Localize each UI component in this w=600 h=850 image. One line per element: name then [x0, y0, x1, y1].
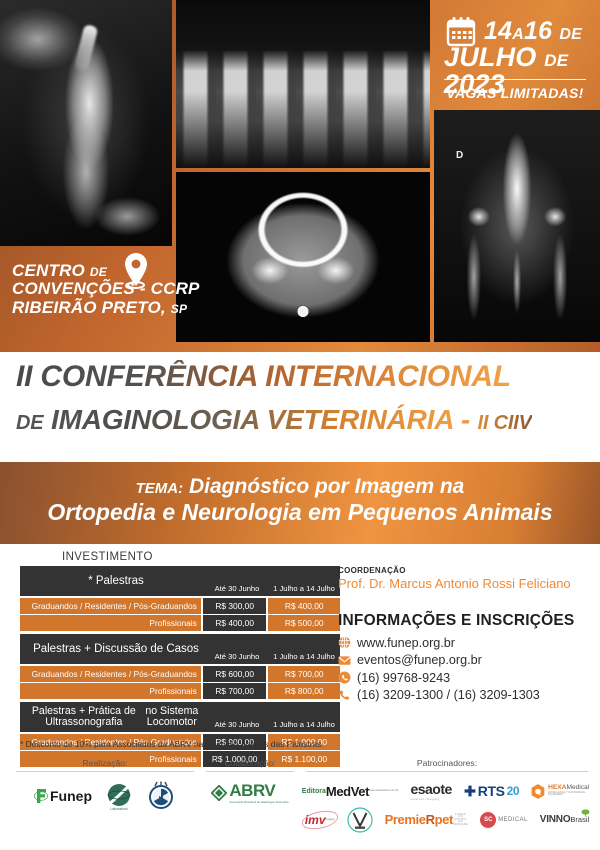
- radiograph-spine-vertebrae: [176, 0, 430, 168]
- event-title: II CONFERÊNCIA INTERNACIONAL DE IMAGINOL…: [0, 352, 600, 460]
- patrocinadores-caption: Patrocinadores:: [306, 758, 588, 772]
- sponsors-patrocinadores: Patrocinadores: Editora MedVet www.medve…: [306, 758, 588, 833]
- radiograph-pelvis-film: [434, 110, 600, 342]
- phone-icon: [338, 689, 351, 702]
- contact-list: www.funep.org.br eventos@funep.org.br (1…: [338, 634, 540, 704]
- ct-scan-film: [176, 172, 430, 342]
- title-main: IMAGINOLOGIA VETERINÁRIA: [51, 404, 453, 435]
- laboratorio-icon: Laboratório: [104, 781, 134, 811]
- contact-website[interactable]: www.funep.org.br: [338, 634, 540, 652]
- esaote-subtitle: medical imaging: [410, 797, 451, 801]
- event-date-day-range: 14A16 DE: [484, 19, 582, 44]
- logo-abrv: ABRV Associação Brasileira de Radiologia…: [211, 781, 288, 804]
- radiograph-limb-lesion: [0, 0, 172, 246]
- logo-radiologia: [146, 781, 176, 811]
- envelope-icon: [338, 654, 351, 667]
- radiograph-limb-film: [0, 0, 172, 246]
- pricing-row-label: Profissionais: [20, 615, 201, 631]
- ct-scan-skull-cross-section: [176, 172, 430, 342]
- venue-de: DE: [90, 265, 107, 279]
- date-de-1: DE: [559, 26, 582, 43]
- contact-phone[interactable]: (16) 3209-1300 / (16) 3209-1303: [338, 687, 540, 705]
- hexa-name-b: Medical: [566, 784, 589, 791]
- venue-address: CENTRO DE CONVENÇÕES - CCRP RIBEIRÃO PRE…: [12, 262, 200, 317]
- theme-banner: TEMA: Diagnóstico por Imagem na Ortopedi…: [0, 462, 600, 544]
- logo-rts: RTS 20: [464, 783, 519, 799]
- pricing-row-value-1: R$ 300,00: [203, 598, 267, 614]
- pricing-col-header-2: 1 Julho a 14 Julho: [270, 652, 338, 661]
- rts-cross-icon: [464, 785, 476, 797]
- realizacao-logos: Funep Laboratório: [16, 772, 194, 811]
- pricing-block-palestras: * Palestras Até 30 Junho 1 Julho a 14 Ju…: [20, 566, 340, 631]
- pricing-row-label: Graduandos / Residentes / Pós-Graduandos: [20, 666, 201, 682]
- hexa-text: HEXAMedical EXCELLENCE YOUR MEDICAL EQUI…: [548, 785, 592, 797]
- pricing-col-header-1: Até 30 Junho: [206, 584, 268, 593]
- radiation-symbol-icon: [146, 781, 176, 811]
- premie-subtitle: TODOS OS NUTRIS DE VERDADE: [453, 814, 468, 827]
- sc-ball-icon: SC: [480, 812, 496, 828]
- theme-line-2: Ortopedia e Neurologia em Pequenos Anima…: [0, 500, 600, 525]
- logo-medvet: Editora MedVet www.medvetlivros.com.br: [302, 785, 399, 798]
- logo-vinno-brasil: VINNO Brasil: [540, 815, 589, 825]
- globe-icon: [338, 636, 351, 649]
- coordination-label: COORDENAÇÃO: [338, 566, 406, 575]
- logo-imv: imv imaging: [305, 814, 335, 826]
- hero-image-mosaic: D: [0, 0, 600, 352]
- pricing-block-title: Palestras + Discussão de Casos: [28, 634, 204, 664]
- abrv-wordmark: ABRV: [229, 781, 275, 800]
- logo-laboratorio: Laboratório: [104, 781, 134, 811]
- vinno-country: Brasil: [570, 816, 589, 824]
- premie-pet: pet: [435, 812, 453, 827]
- pricing-block-title: Palestras + Prática de Ultrassonografia …: [28, 702, 204, 732]
- pricing-col-header-1: Até 30 Junho: [206, 652, 268, 661]
- theme-label: TEMA:: [136, 480, 184, 497]
- pricing-block-title: * Palestras: [28, 566, 204, 596]
- website-text: www.funep.org.br: [357, 636, 455, 650]
- pricing-block-discussao-casos: Palestras + Discussão de Casos Até 30 Ju…: [20, 634, 340, 699]
- medvet-url: www.medvetlivros.com.br: [369, 790, 398, 793]
- vinno-wordmark: VINNO: [540, 815, 571, 825]
- date-month: JULHO: [444, 42, 537, 72]
- esaote-wordmark: esaote: [410, 781, 451, 797]
- table-row: Graduandos / Residentes / Pós-Graduandos…: [20, 598, 340, 614]
- title-line-2: DE IMAGINOLOGIA VETERINÁRIA - II CIIV: [16, 404, 532, 436]
- pricing-col-header-2: 1 Julho a 14 Julho: [270, 584, 338, 593]
- email-text: eventos@funep.org.br: [357, 653, 482, 667]
- logo-vet-circle: [347, 807, 373, 833]
- radiograph-pelvis-hips: D: [434, 110, 600, 342]
- logo-esaote: esaote medical imaging: [410, 781, 451, 801]
- pricing-block-header: Palestras + Discussão de Casos Até 30 Ju…: [20, 634, 340, 664]
- premie-wordmark: Premie: [385, 812, 426, 827]
- table-row: Graduandos / Residentes / Pós-Graduandos…: [20, 666, 340, 682]
- event-date-block: 14A16 DE JULHO DE 2023 VAGAS LIMITADAS!: [430, 0, 600, 110]
- medvet-editora: Editora: [302, 788, 326, 795]
- sponsors-realizacao: Realização: Funep Laboratório: [16, 758, 194, 811]
- pricing-block-header: Palestras + Prática de Ultrassonografia …: [20, 702, 340, 732]
- logo-sc-medical: SC MEDICAL: [480, 812, 527, 828]
- logo-premierpet: PremieRpet TODOS OS NUTRIS DE VERDADE: [385, 812, 469, 828]
- pricing-col-header-1: Até 30 Junho: [206, 720, 268, 729]
- whatsapp-icon: [338, 671, 351, 684]
- realizacao-caption: Realização:: [16, 758, 194, 772]
- pricing-col-header-2: 1 Julho a 14 Julho: [270, 720, 338, 729]
- table-row: Profissionais R$ 700,00 R$ 800,00: [20, 683, 340, 699]
- pricing-row-label: Graduandos / Residentes / Pós-Graduandos: [20, 598, 201, 614]
- venue-city: RIBEIRÃO PRETO,: [12, 298, 166, 317]
- colaboracao-caption: Colaboração:: [206, 758, 294, 772]
- date-de-2: DE: [544, 51, 568, 70]
- venue-state: SP: [171, 302, 187, 316]
- title-dash: -: [461, 404, 470, 435]
- contact-whatsapp[interactable]: (16) 99768-9243: [338, 669, 540, 687]
- theme-line-1: Diagnóstico por Imagem na: [189, 475, 464, 498]
- radiograph-spine-film: [176, 0, 430, 168]
- limited-seats-badge: VAGAS LIMITADAS!: [444, 79, 586, 101]
- premie-r: R: [426, 812, 435, 827]
- pricing-row-value-1: R$ 400,00: [203, 615, 267, 631]
- whatsapp-text: (16) 99768-9243: [357, 671, 450, 685]
- venue-line-3: RIBEIRÃO PRETO, SP: [12, 299, 200, 317]
- pricing-row-value-2: R$ 800,00: [268, 683, 340, 699]
- logo-hexamedical: HEXAMedical EXCELLENCE YOUR MEDICAL EQUI…: [531, 782, 592, 801]
- funep-wordmark: Funep: [50, 788, 92, 804]
- logo-funep: Funep: [34, 788, 92, 804]
- pricing-row-label: Profissionais: [20, 683, 201, 699]
- hexa-name-a: HEXA: [548, 784, 566, 791]
- pricing-row-value-2: R$ 700,00: [268, 666, 340, 682]
- rts-anniversary: 20: [507, 784, 520, 798]
- radiograph-side-marker: D: [456, 150, 463, 161]
- phone-text: (16) 3209-1300 / (16) 3209-1303: [357, 688, 540, 702]
- pricing-row-value-2: R$ 500,00: [268, 615, 340, 631]
- discount-footnote: * Desconto de 10% para Associados da ABR…: [20, 739, 322, 749]
- patrocinadores-logos-row-1: Editora MedVet www.medvetlivros.com.br e…: [306, 772, 588, 801]
- venue-centro: CENTRO: [12, 261, 85, 280]
- conference-poster: D: [0, 0, 600, 850]
- date-range-connector: A: [512, 26, 524, 43]
- contact-email[interactable]: eventos@funep.org.br: [338, 652, 540, 670]
- coordinator-name: Prof. Dr. Marcus Antonio Rossi Feliciano: [338, 576, 571, 591]
- medvet-wordmark: MedVet: [326, 785, 369, 798]
- pricing-row-value-2: R$ 400,00: [268, 598, 340, 614]
- information-heading: INFORMAÇÕES E INSCRIÇÕES: [338, 612, 574, 630]
- theme-row-1: TEMA: Diagnóstico por Imagem na: [0, 462, 600, 498]
- pricing-block-header: * Palestras Até 30 Junho 1 Julho a 14 Ju…: [20, 566, 340, 596]
- rts-wordmark: RTS: [478, 783, 505, 799]
- hexa-subtitle: EXCELLENCE YOUR MEDICAL EQUIPMENT: [548, 792, 592, 797]
- investment-label: INVESTIMENTO: [62, 551, 153, 563]
- title-acronym: II CIIV: [478, 412, 532, 434]
- pricing-block-title-line-2: no Sistema Locomotor: [140, 706, 204, 728]
- pricing-row-value-1: R$ 600,00: [203, 666, 267, 682]
- vinno-leaf-icon: [581, 809, 590, 817]
- venue-line-2: CONVENÇÕES - CCRP: [12, 280, 200, 298]
- funep-mark-icon: [34, 788, 49, 804]
- pricing-block-title-line-1: Palestras + Prática de Ultrassonografia: [28, 706, 140, 728]
- vet-circle-icon: [347, 807, 373, 833]
- hexa-hexagon-icon: [531, 782, 545, 801]
- sponsors-colaboracao: Colaboração: ABRV Associação Brasileira …: [206, 758, 294, 804]
- abrv-diamond-icon: [211, 785, 227, 801]
- pricing-row-value-1: R$ 700,00: [203, 683, 267, 699]
- sc-medical-word: MEDICAL: [498, 817, 527, 823]
- venue-line-1: CENTRO DE: [12, 262, 200, 280]
- colaboracao-logos: ABRV Associação Brasileira de Radiologia…: [206, 772, 294, 804]
- title-line-1: II CONFERÊNCIA INTERNACIONAL: [16, 360, 511, 394]
- table-row: Profissionais R$ 400,00 R$ 500,00: [20, 615, 340, 631]
- imv-swoosh-icon: [301, 810, 339, 830]
- patrocinadores-logos-row-2: imv imaging PremieRpet TODOS OS NUTRIS D…: [306, 801, 588, 833]
- abrv-subtitle: Associação Brasileira de Radiologia Vete…: [229, 801, 288, 804]
- title-de: DE: [16, 412, 43, 434]
- svg-text:Laboratório: Laboratório: [110, 807, 127, 811]
